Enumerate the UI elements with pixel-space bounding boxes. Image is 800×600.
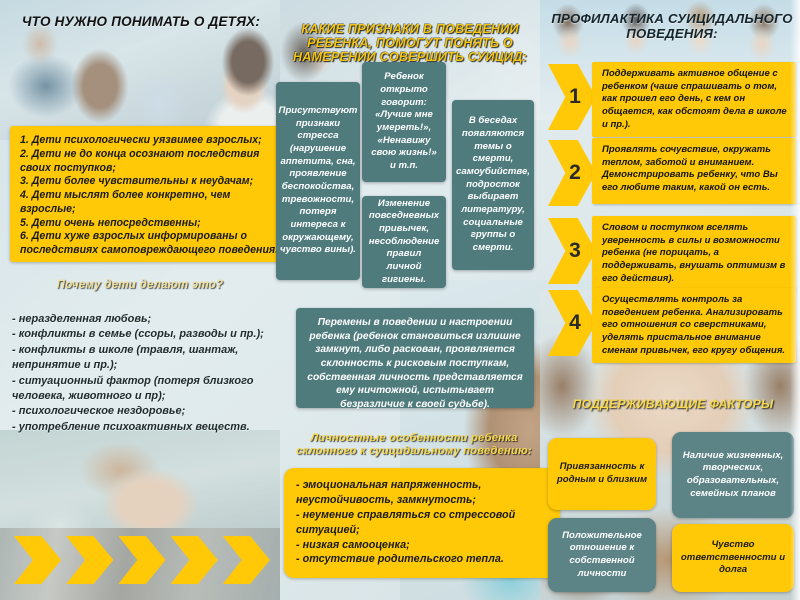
heading-supporting-factors: ПОДДЕРЖИВАЮЩИЕ ФАКТОРЫ: [548, 398, 798, 412]
heading-personal-traits: Личностные особенности ребенка склонного…: [286, 432, 542, 457]
prevention-step-2: 2 Проявлять сочувствие, окружать теплом,…: [548, 138, 796, 210]
sign-box-open-statements: Ребенок открыто говорит: «Лучше мне умер…: [362, 62, 446, 182]
support-factor-card: Привязанность к родным и близким: [548, 438, 656, 510]
right-edge-highlight: [790, 0, 800, 600]
fact-item: 4. Дети мыслят более конкретно, чем взро…: [20, 189, 282, 217]
fact-item: 5. Дети очень непосредственны;: [20, 217, 282, 231]
sign-box-stress: Присутствуют признаки стресса (нарушение…: [276, 82, 360, 280]
support-factor-card: Положительное отношение к собственной ли…: [548, 518, 656, 592]
trait-item: - отсутствие родительского тепла.: [296, 552, 550, 567]
why-item: - употребление психоактивных веществ.: [12, 420, 278, 435]
why-item: - конфликты в семье (ссоры, разводы и пр…: [12, 327, 278, 342]
why-reasons-list: - неразделенная любовь; - конфликты в се…: [12, 312, 278, 435]
step-text: Проявлять сочувствие, окружать теплом, з…: [592, 138, 796, 204]
chevron-icon: [223, 536, 270, 584]
sign-box-death-topics: В беседах появляются темы о смерти, само…: [452, 100, 534, 270]
trait-item: - неумение справляться со стрессовой сит…: [296, 508, 550, 538]
heading-prevention: ПРОФИЛАКТИКА СУИЦИДАЛЬНОГО ПОВЕДЕНИЯ:: [548, 12, 796, 42]
sign-box-habit-change: Изменение повседневных привычек, несоблю…: [362, 196, 446, 288]
step-number-chevron-icon: 1: [548, 64, 596, 130]
step-text: Осуществлять контроль за поведением ребе…: [592, 288, 796, 363]
facts-list-box: 1. Дети психологически уязвимее взрослых…: [10, 126, 290, 262]
why-item: - ситуационный фактор (потеря близкого ч…: [12, 374, 278, 405]
heading-behaviour-signs: КАКИЕ ПРИЗНАКИ В ПОВЕДЕНИИ РЕБЕНКА, ПОМО…: [286, 22, 534, 64]
why-item: - неразделенная любовь;: [12, 312, 278, 327]
fact-item: 1. Дети психологически уязвимее взрослых…: [20, 134, 282, 148]
why-item: - психологическое нездоровье;: [12, 404, 278, 419]
sign-box-mood-changes: Перемены в поведении и настроении ребенк…: [296, 308, 534, 408]
prevention-step-4: 4 Осуществлять контроль за поведением ре…: [548, 288, 796, 360]
support-factor-card: Наличие жизненных, творческих, образоват…: [672, 432, 794, 518]
heading-what-to-understand: ЧТО НУЖНО ПОНИМАТЬ О ДЕТЯХ:: [8, 14, 274, 29]
support-factor-card: Чувство ответственности и долга: [672, 524, 794, 592]
chevron-icon: [118, 536, 165, 584]
fact-item: 6. Дети хуже взрослых информированы о по…: [20, 230, 282, 258]
heading-why-children-do-this: Почему дети делают это?: [18, 278, 262, 291]
mood-text-part1: Перемены в поведении и настроении ребенк…: [309, 317, 520, 369]
chevron-icon: [14, 536, 61, 584]
step-text: Поддерживать активное общение с ребенком…: [592, 62, 796, 137]
personal-traits-box: - эмоциональная напряженность, неустойчи…: [284, 468, 560, 578]
prevention-step-1: 1 Поддерживать активное общение с ребенк…: [548, 62, 796, 134]
step-number-chevron-icon: 3: [548, 218, 596, 284]
trait-item: - эмоциональная напряженность, неустойчи…: [296, 478, 550, 508]
chevron-icon: [66, 536, 113, 584]
why-item: - конфликты в школе (травля, шантаж, неп…: [12, 343, 278, 374]
step-number-chevron-icon: 4: [548, 290, 596, 356]
fact-item: 2. Дети не до конца осознают последствия…: [20, 148, 282, 176]
step-number-chevron-icon: 2: [548, 140, 596, 206]
chevron-icon: [171, 536, 218, 584]
trait-item: - низкая самооценка;: [296, 538, 550, 553]
prevention-step-3: 3 Словом и поступком вселять уверенность…: [548, 216, 796, 288]
infographic-poster: ЧТО НУЖНО ПОНИМАТЬ О ДЕТЯХ: КАКИЕ ПРИЗНА…: [0, 0, 800, 600]
decorative-chevron-row: [14, 536, 270, 586]
step-text: Словом и поступком вселять уверенность в…: [592, 216, 796, 291]
fact-item: 3. Дети более чувствительны к неудачам;: [20, 175, 282, 189]
